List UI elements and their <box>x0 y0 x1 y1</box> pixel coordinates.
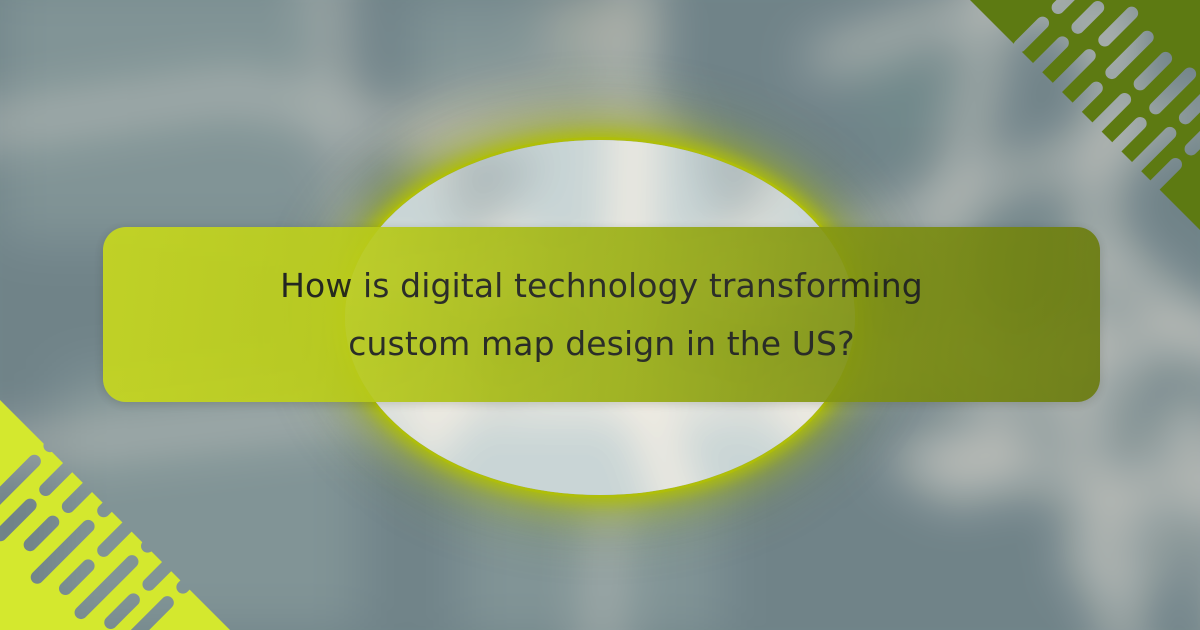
share-card: How is digital technology transforming c… <box>0 0 1200 630</box>
headline-line-1: How is digital technology transforming <box>280 266 923 305</box>
headline-banner: How is digital technology transforming c… <box>103 227 1100 402</box>
dash-pattern-top-right <box>970 0 1200 230</box>
headline-line-2: custom map design in the US? <box>348 324 854 363</box>
dash-pattern-bottom-left <box>0 400 230 630</box>
page-title: How is digital technology transforming c… <box>103 257 1100 373</box>
